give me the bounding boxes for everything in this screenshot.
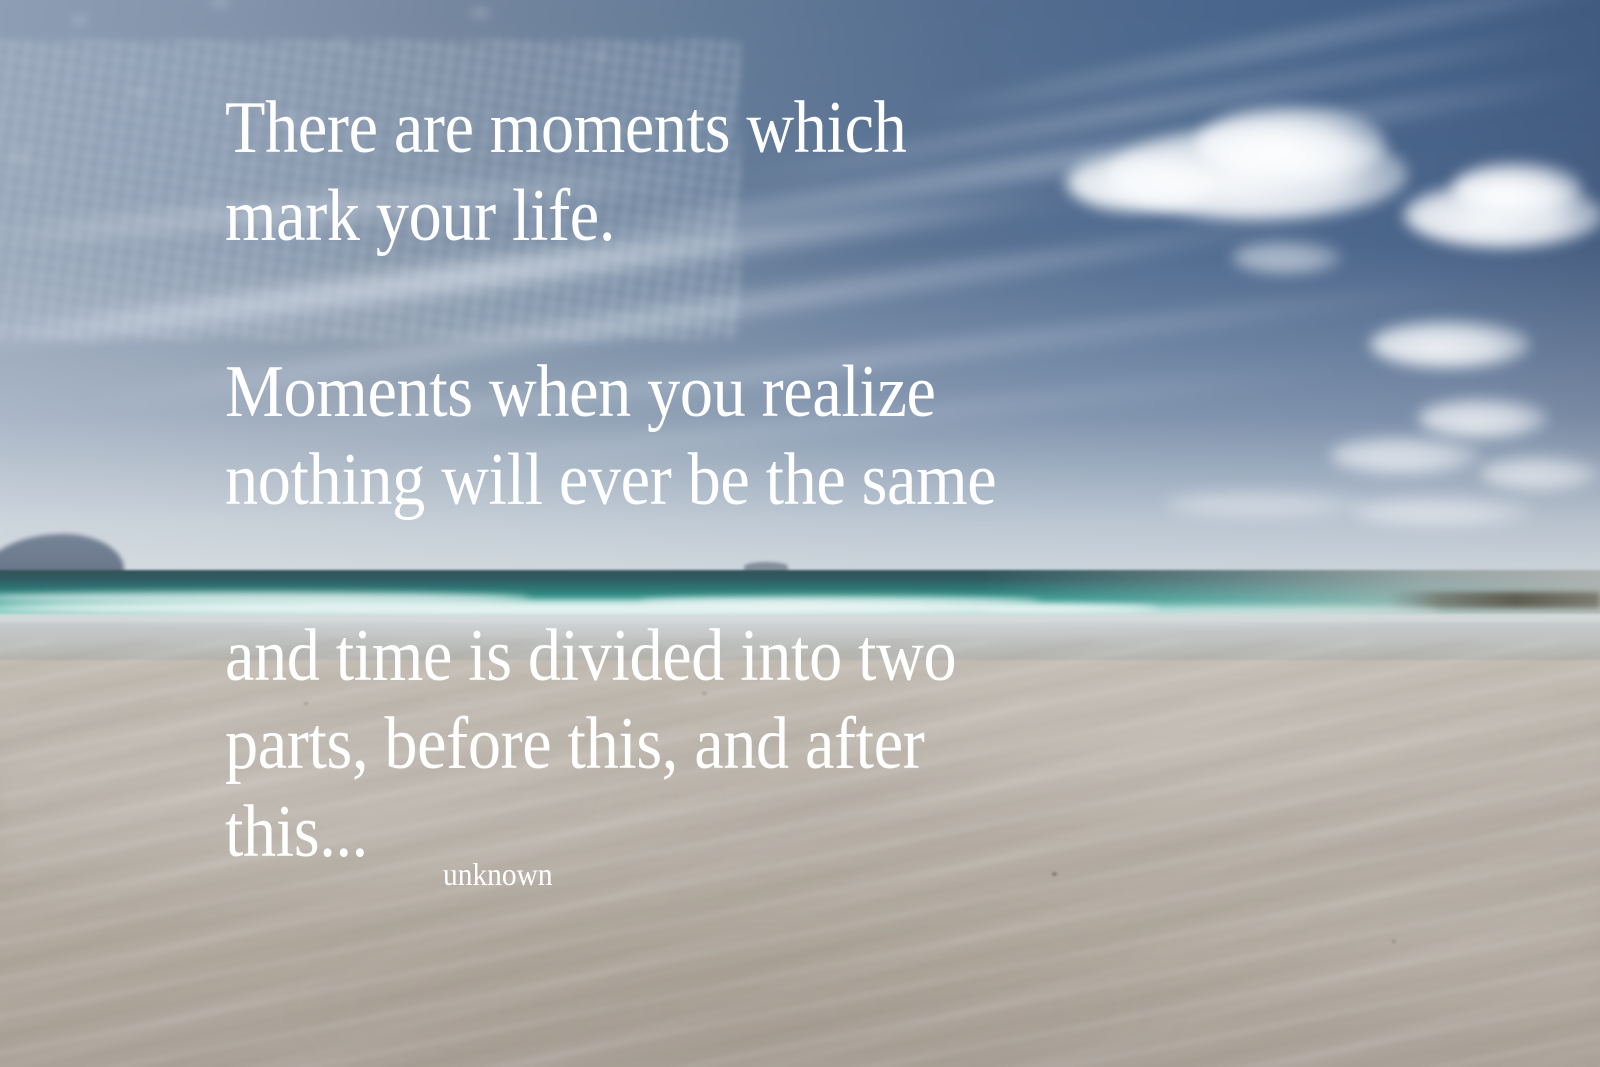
paragraph-spacer [225,524,1565,612]
quote-paragraph-3: and time is divided into two parts, befo… [225,612,1424,876]
quote-overlay: There are moments which mark your life. … [0,0,1600,1067]
paragraph-spacer [225,260,1565,348]
quote-paragraph-2: Moments when you realize nothing will ev… [225,348,1424,524]
quote-paragraph-1: There are moments which mark your life. [225,84,1424,260]
quote-text-block: There are moments which mark your life. … [225,84,1565,876]
quote-image: There are moments which mark your life. … [0,0,1600,1067]
quote-attribution: unknown [443,855,553,893]
